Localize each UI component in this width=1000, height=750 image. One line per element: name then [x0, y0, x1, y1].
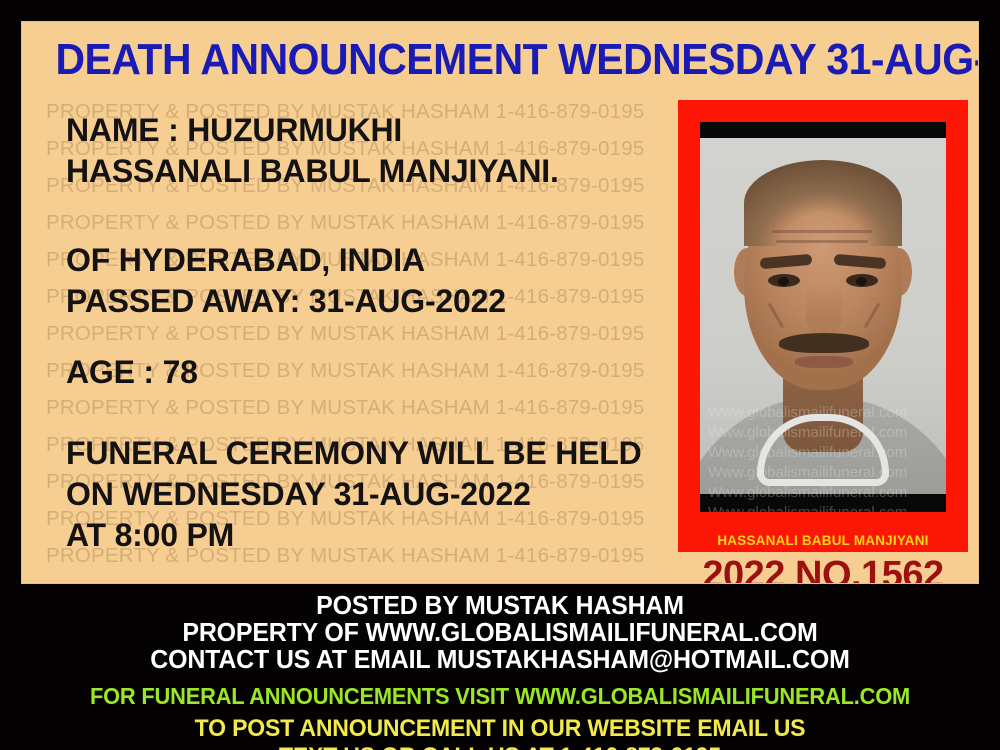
footer-posted-by: POSTED BY MUSTAK HASHAM — [20, 592, 980, 619]
footer-contact: CONTACT US AT EMAIL MUSTAKHASHAM@HOTMAIL… — [20, 646, 980, 673]
photo-watermark-line: Www.globalismailifuneral.com — [708, 504, 907, 512]
forehead-wrinkle-2 — [776, 240, 868, 243]
portrait-caption: HASSANALI BABUL MANJIYANI — [678, 533, 968, 548]
portrait-frame: Www.globalismailifuneral.comWww.globalis… — [678, 100, 968, 552]
announcement-panel: PROPERTY & POSTED BY MUSTAK HASHAM 1-416… — [22, 22, 978, 583]
pupil-left-shape — [778, 277, 789, 286]
age-line: AGE : 78 — [66, 352, 696, 393]
forehead-wrinkle-1 — [772, 230, 872, 233]
funeral-line-1: FUNERAL CEREMONY WILL BE HELD — [66, 433, 696, 474]
name-line-2: HASSANALI BABUL MANJIYANI. — [66, 151, 696, 192]
death-announcement-poster: PROPERTY & POSTED BY MUSTAK HASHAM 1-416… — [0, 0, 1000, 750]
photo-watermark-line: Www.globalismailifuneral.com — [708, 404, 907, 421]
spacer-3 — [66, 393, 696, 433]
footer-announcements: FOR FUNERAL ANNOUNCEMENTS VISIT WWW.GLOB… — [25, 682, 975, 711]
funeral-line-2: ON WEDNESDAY 31-AUG-2022 — [66, 474, 696, 515]
record-number: 2022 NO.1562 — [678, 554, 968, 583]
photo-watermark-line: Www.globalismailifuneral.com — [708, 424, 907, 441]
hair-shape — [744, 160, 902, 246]
photo-top-bar — [700, 122, 946, 138]
funeral-line-3: AT 8:00 PM — [66, 515, 696, 556]
mouth-shape — [795, 356, 853, 368]
origin-line: OF HYDERABAD, INDIA — [66, 240, 696, 281]
eye-left-shape — [768, 274, 800, 287]
announcement-body: NAME : HUZURMUKHI HASSANALI BABUL MANJIY… — [66, 110, 696, 556]
poster-footer: POSTED BY MUSTAK HASHAM PROPERTY OF WWW.… — [0, 588, 1000, 750]
photo-watermark-line: Www.globalismailifuneral.com — [708, 464, 907, 481]
moustache-shape — [779, 333, 869, 353]
page-title: DEATH ANNOUNCEMENT WEDNESDAY 31-AUG-2022 — [55, 34, 944, 86]
portrait-photo: Www.globalismailifuneral.comWww.globalis… — [700, 122, 946, 512]
pupil-right-shape — [856, 277, 867, 286]
eye-right-shape — [846, 274, 878, 287]
photo-watermark-line: Www.globalismailifuneral.com — [708, 484, 907, 501]
nose-shape — [806, 286, 842, 336]
photo-watermark-line: Www.globalismailifuneral.com — [708, 444, 907, 461]
footer-post-instructions: TO POST ANNOUNCEMENT IN OUR WEBSITE EMAI… — [20, 715, 980, 743]
passed-away-line: PASSED AWAY: 31-AUG-2022 — [66, 281, 696, 322]
footer-property-of: PROPERTY OF WWW.GLOBALISMAILIFUNERAL.COM — [20, 619, 980, 646]
footer-white-block: POSTED BY MUSTAK HASHAM PROPERTY OF WWW.… — [0, 588, 1000, 673]
watermark-line: PROPERTY & POSTED BY MUSTAK HASHAM 1-416… — [46, 581, 644, 583]
name-line-1: NAME : HUZURMUKHI — [66, 110, 696, 151]
footer-phone: TEXT US OR CALL US AT 1-416-879-0195 — [20, 743, 980, 750]
spacer-1 — [66, 192, 696, 240]
spacer-2 — [66, 322, 696, 352]
